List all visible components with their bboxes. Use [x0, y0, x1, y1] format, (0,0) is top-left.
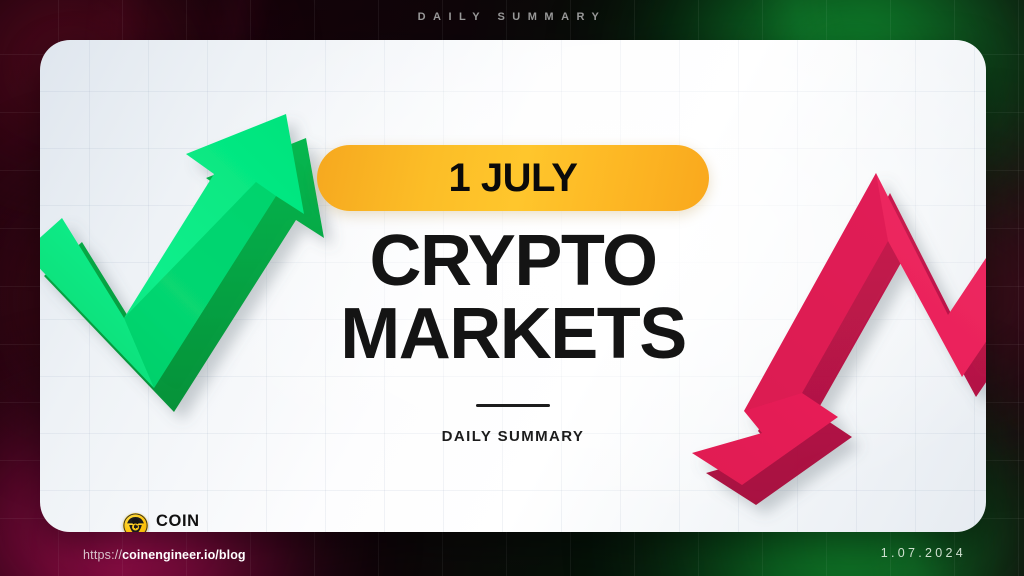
footer-date: 1.07.2024	[881, 546, 966, 560]
content-card: 1 JULY CRYPTO MARKETS DAILY SUMMARY	[40, 40, 986, 532]
footer-url-protocol: https://	[83, 548, 122, 562]
title-line-2: MARKETS	[340, 300, 686, 370]
brand-logo[interactable]: COIN ENGINEER	[123, 513, 211, 532]
brand-word-coin: COIN	[156, 513, 211, 530]
title-line-1: CRYPTO	[340, 227, 686, 297]
footer-website-url[interactable]: https://coinengineer.io/blog	[83, 548, 246, 562]
title-divider	[476, 404, 550, 407]
footer-url-domain: coinengineer.io/blog	[122, 548, 246, 562]
date-badge-label: 1 JULY	[449, 156, 578, 201]
eyebrow-label: DAILY SUMMARY	[0, 11, 1024, 23]
page-title: CRYPTO MARKETS	[340, 227, 686, 370]
brand-word-engineer: ENGINEER	[156, 532, 211, 533]
date-badge[interactable]: 1 JULY	[317, 145, 709, 211]
brand-logo-wordmark: COIN ENGINEER	[156, 513, 211, 532]
coin-engineer-miner-icon	[123, 513, 148, 532]
subtitle-label: DAILY SUMMARY	[442, 428, 585, 445]
poster-canvas: DAILY SUMMARY	[0, 0, 1024, 576]
